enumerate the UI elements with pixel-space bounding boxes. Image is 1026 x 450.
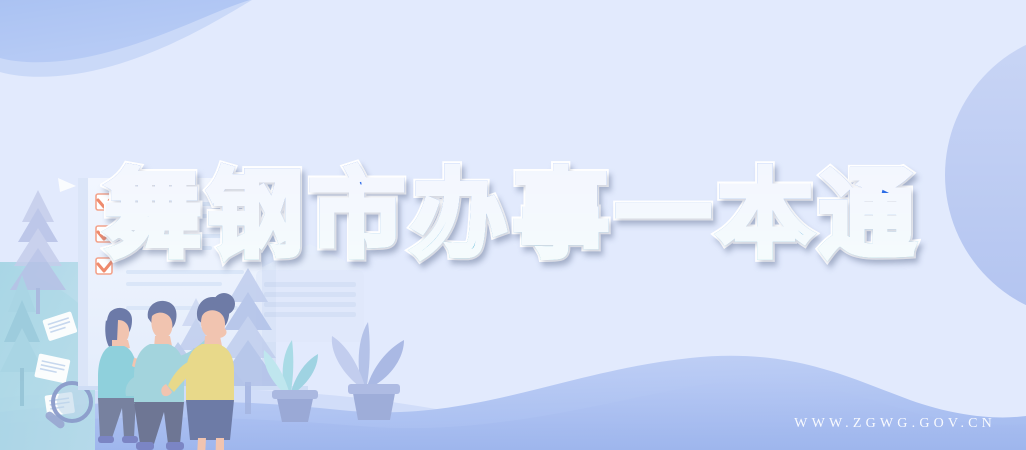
site-url-watermark: WWW.ZGWG.GOV.CN [794,416,996,432]
site-banner: 舞钢市办事一本通 舞钢市办事一本通 WWW.ZGWG.GOV.CN [0,0,1026,450]
banner-title: 舞钢市办事一本通 [0,160,1026,270]
